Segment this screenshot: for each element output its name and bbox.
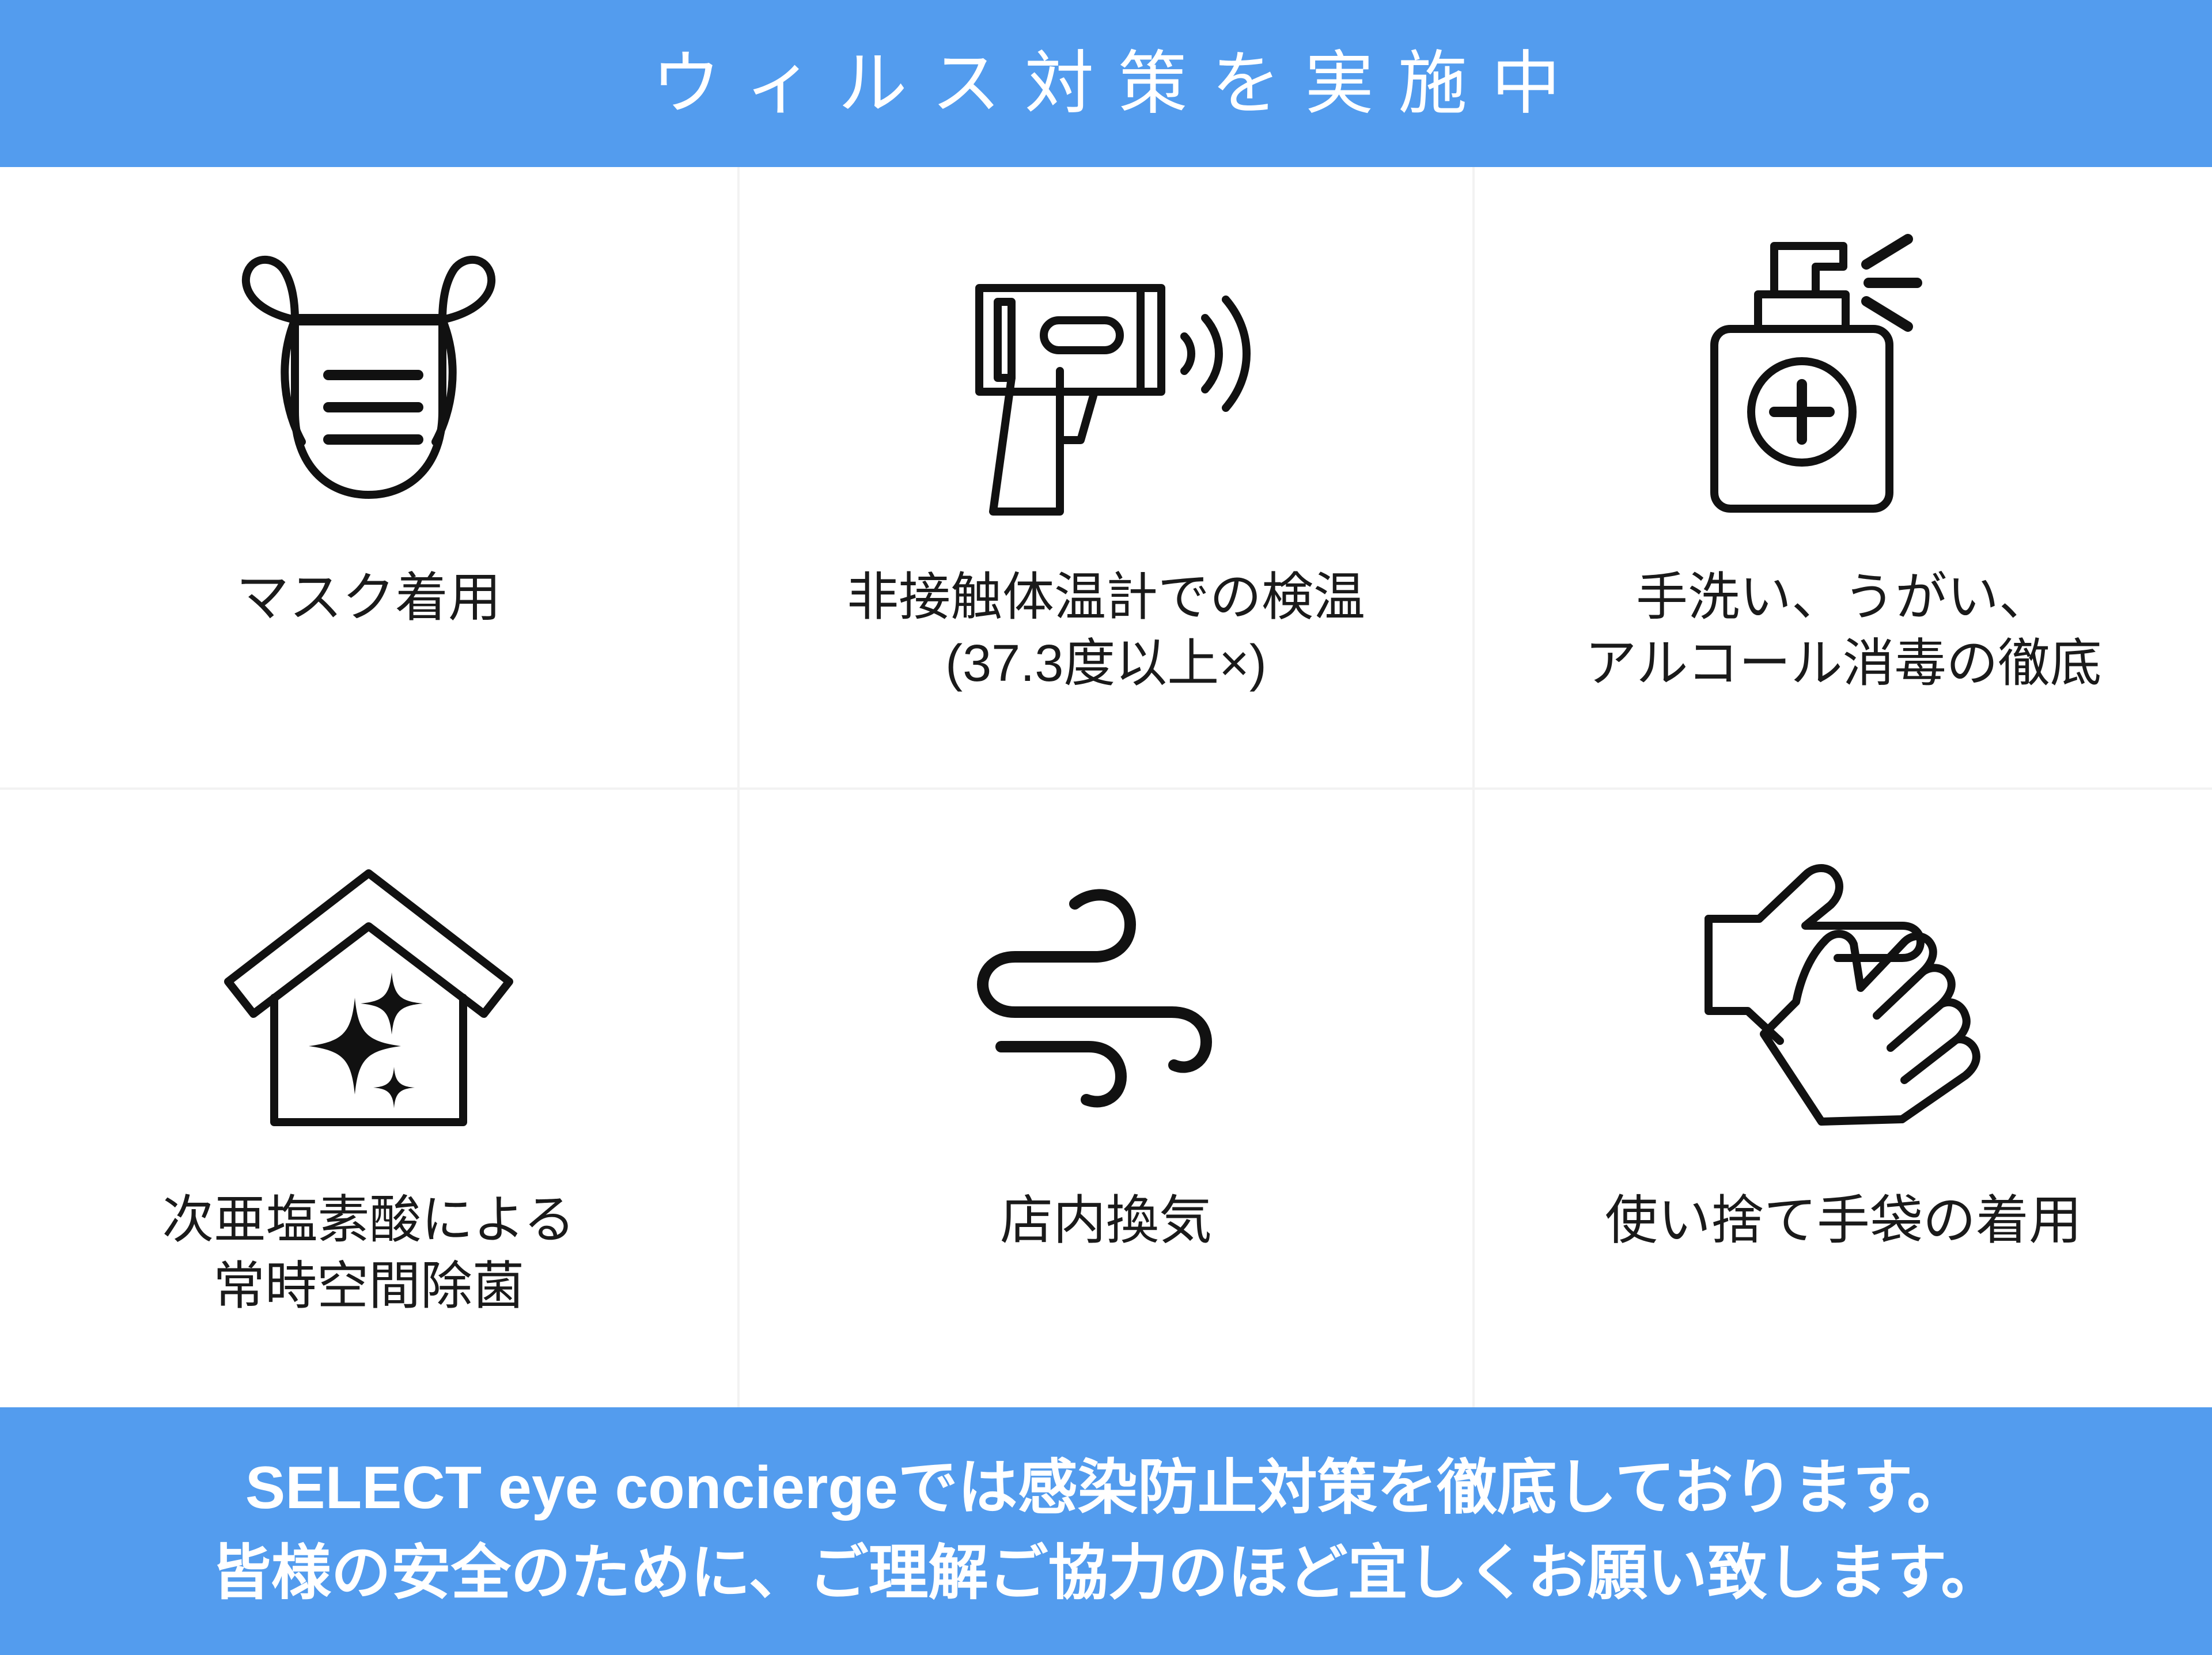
measure-cell-mask: マスク着用 (0, 167, 737, 787)
measure-cell-thermometer: 非接触体温計での検温 (37.3度以上×) (737, 167, 1475, 787)
header-banner: ウィルス対策を実施中 (0, 0, 2212, 167)
measure-label: 店内換気 (1000, 1181, 1212, 1255)
infrared-thermometer-icon (757, 190, 1455, 559)
footer-line-1: SELECT eye conciergeでは感染防止対策を徹底しております。 (245, 1446, 1967, 1531)
measure-cell-sanitizer: 手洗い、うがい、 アルコール消毒の徹底 (1475, 167, 2212, 787)
sparkling-house-icon (17, 813, 720, 1181)
measure-label: 非接触体温計での検温 (37.3度以上×) (847, 559, 1365, 697)
page-title: ウィルス対策を実施中 (627, 49, 1585, 118)
face-mask-icon (17, 190, 720, 559)
footer-banner: SELECT eye conciergeでは感染防止対策を徹底しております。 皆… (0, 1407, 2212, 1655)
measure-label: マスク着用 (236, 559, 501, 633)
measure-cell-space-sterilization: 次亜塩素酸による 常時空間除菌 (0, 787, 737, 1408)
wind-ventilation-icon (757, 813, 1455, 1181)
virus-countermeasures-poster: ウィルス対策を実施中 (0, 0, 2212, 1655)
measure-label: 使い捨て手袋の着用 (1605, 1181, 2082, 1255)
measures-grid: マスク着用 (0, 167, 2212, 1407)
alcohol-sanitizer-bottle-icon (1492, 190, 2195, 559)
measure-cell-ventilation: 店内換気 (737, 787, 1475, 1408)
measure-cell-gloves: 使い捨て手袋の着用 (1475, 787, 2212, 1408)
measure-label: 次亜塩素酸による 常時空間除菌 (162, 1181, 575, 1320)
disposable-gloves-icon (1492, 813, 2195, 1181)
footer-line-2: 皆様の安全のために、ご理解ご協力のほど宜しくお願い致します。 (211, 1531, 2001, 1616)
measure-label: 手洗い、うがい、 アルコール消毒の徹底 (1585, 559, 2101, 697)
